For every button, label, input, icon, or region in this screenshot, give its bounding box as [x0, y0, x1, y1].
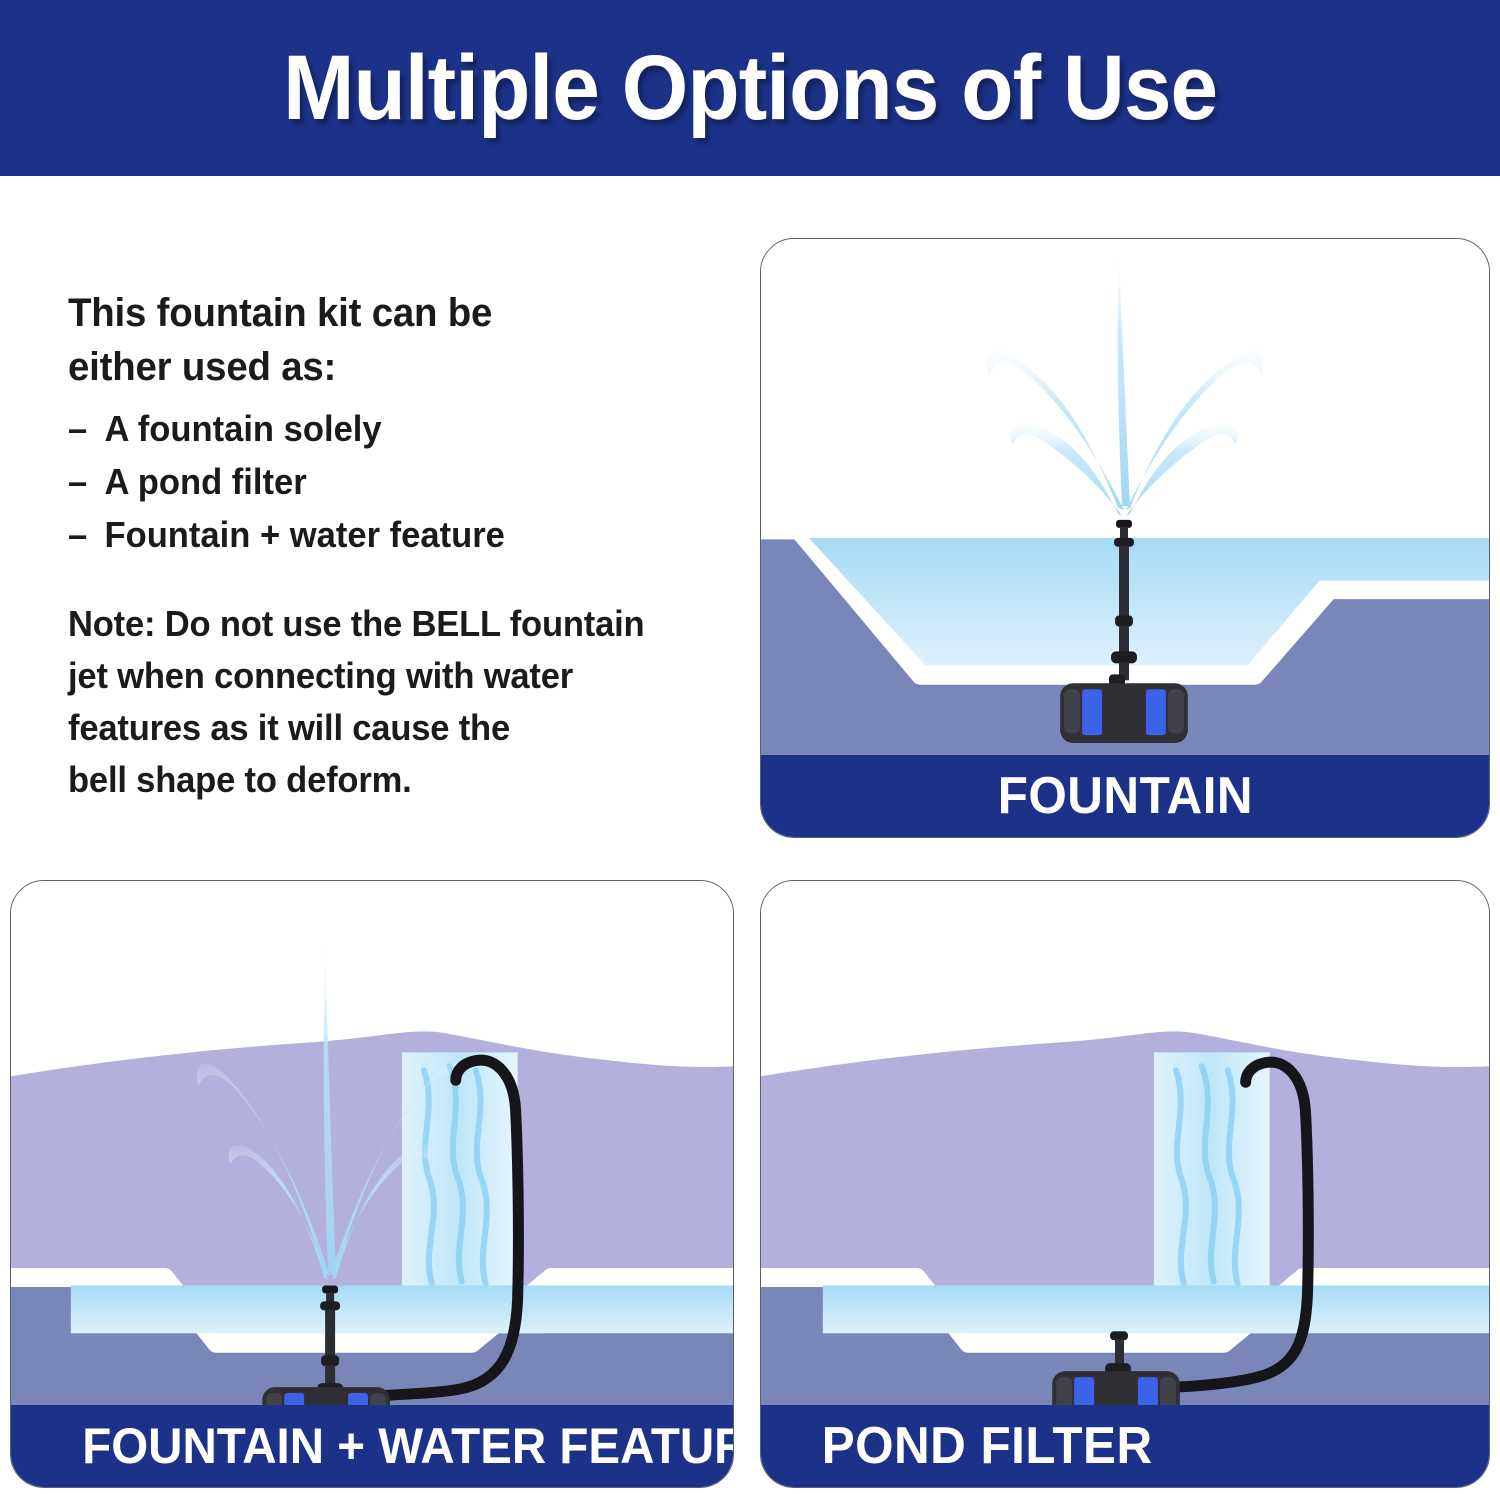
background-hills: [11, 1031, 733, 1299]
dash-marker: –: [68, 456, 104, 509]
intro-line-1: This fountain kit can be: [68, 286, 682, 340]
list-item-label: A fountain solely: [104, 403, 381, 456]
note-line-1: Note: Do not use the BELL fountain: [68, 598, 682, 650]
panel-label-pond-filter: POND FILTER: [761, 1405, 1489, 1487]
intro-line-2: either used as:: [68, 340, 682, 394]
panel-label-text: POND FILTER: [822, 1420, 1153, 1472]
note-line-3: features as it will cause the: [68, 702, 682, 754]
panel-label-fountain: FOUNTAIN: [761, 755, 1489, 837]
list-item-label: Fountain + water feature: [104, 509, 504, 562]
panel-fountain: FOUNTAIN: [760, 238, 1490, 838]
list-item: – Fountain + water feature: [68, 509, 682, 562]
page-title: Multiple Options of Use: [283, 42, 1217, 134]
dash-marker: –: [68, 403, 104, 456]
panel-label-text: FOUNTAIN: [997, 770, 1252, 822]
panel-fountain-features: FOUNTAIN + WATER FEATURES: [10, 880, 734, 1488]
header-banner: Multiple Options of Use: [0, 0, 1500, 176]
scene-fountain-features: [11, 881, 733, 1405]
background-hills: [761, 1031, 1489, 1299]
pump-unit: [1060, 683, 1188, 743]
scene-fountain: [761, 239, 1489, 755]
infographic-root: Multiple Options of Use This fountain ki…: [0, 0, 1500, 1494]
pump-unit: [262, 1387, 390, 1405]
panel-pond-filter: POND FILTER: [760, 880, 1490, 1488]
note-block: Note: Do not use the BELL fountain jet w…: [68, 598, 708, 807]
use-case-list: – A fountain solely – A pond filter – Fo…: [68, 403, 708, 562]
scene-pond-filter: [761, 881, 1489, 1405]
list-item: – A pond filter: [68, 456, 682, 509]
dash-marker: –: [68, 509, 104, 562]
description-column: This fountain kit can be either used as:…: [68, 286, 708, 806]
note-line-2: jet when connecting with water: [68, 650, 682, 702]
pump-unit: [1052, 1371, 1180, 1405]
list-item-label: A pond filter: [104, 456, 306, 509]
list-item: – A fountain solely: [68, 403, 682, 456]
panel-label-text: FOUNTAIN + WATER FEATURES: [82, 1421, 734, 1471]
note-line-4: bell shape to deform.: [68, 754, 682, 806]
panel-label-fountain-features: FOUNTAIN + WATER FEATURES: [11, 1405, 733, 1487]
